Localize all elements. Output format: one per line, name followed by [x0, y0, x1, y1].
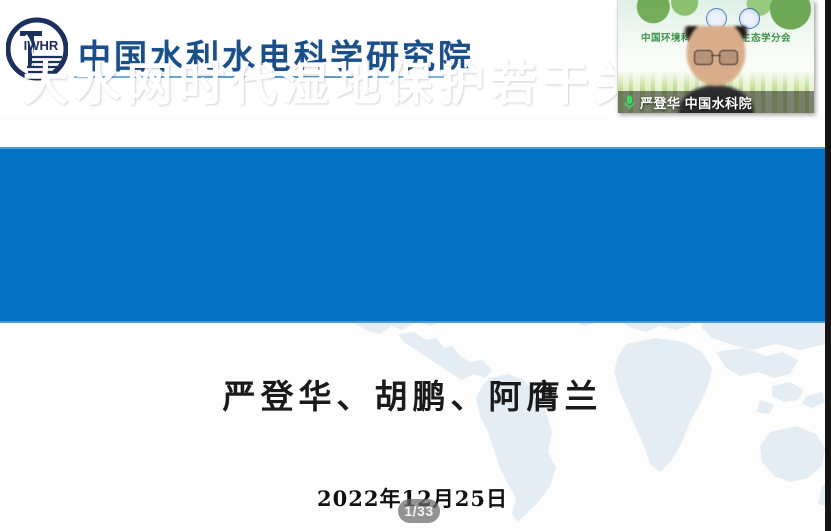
speaker-name-label: 严登华 中国水科院	[640, 93, 752, 112]
speaker-video-tile[interactable]: 中国环境科学学会流域生态学分会 2022 严登华 中国水科院	[617, 0, 814, 113]
page-indicator-badge: 1/33	[398, 499, 440, 523]
microphone-icon[interactable]	[624, 95, 635, 110]
title-band	[0, 147, 825, 323]
glasses-lens-right	[719, 50, 738, 65]
speaker-name-bar: 严登华 中国水科院	[618, 91, 814, 113]
authors-line: 严登华、胡鹏、阿膺兰	[0, 370, 825, 418]
presentation-screen: IWHR 中国水利水电科学研究院 大水网时代湿地保护若干关键问题 严登华、胡鹏、…	[0, 0, 831, 531]
speaker-glasses	[694, 50, 738, 63]
window-edge-strip	[825, 0, 831, 531]
glasses-lens-left	[694, 50, 713, 65]
